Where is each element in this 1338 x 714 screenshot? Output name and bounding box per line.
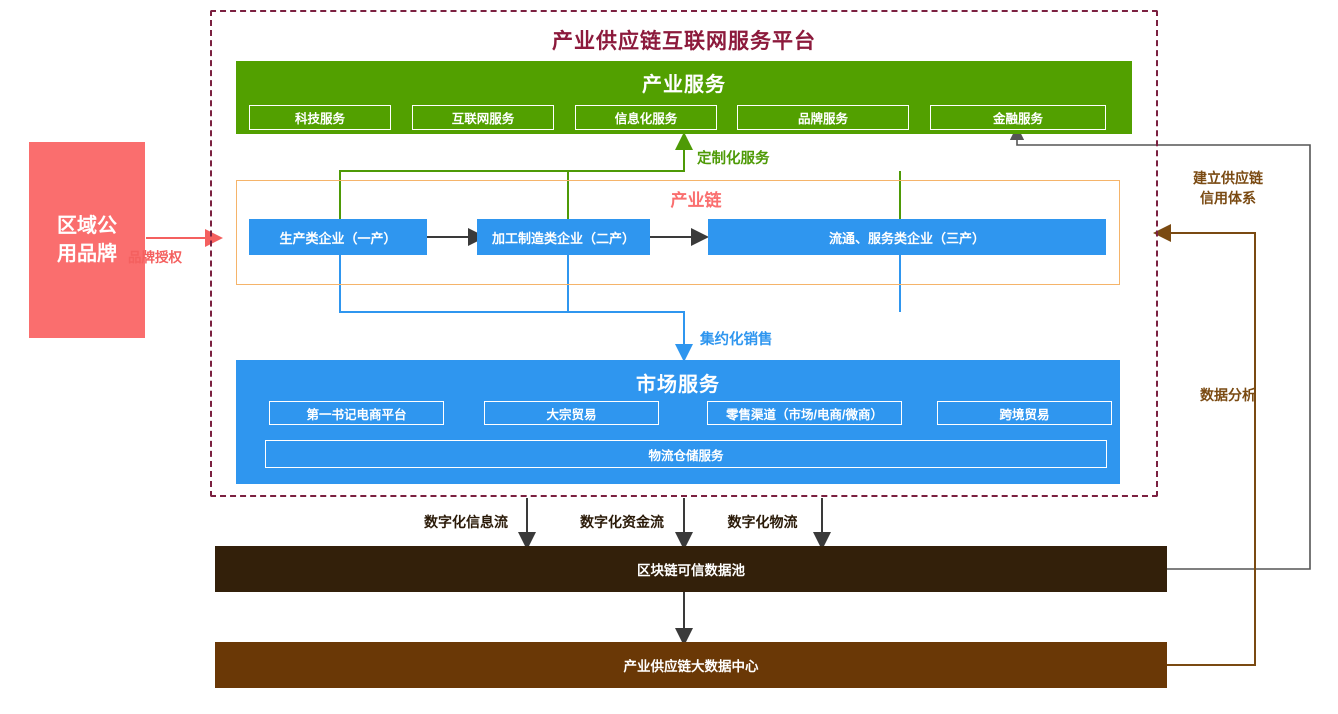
credit-system-label: 建立供应链 信用体系	[1168, 168, 1288, 208]
service-chip-internet[interactable]: 互联网服务	[412, 105, 554, 130]
industry-chain-title: 产业链	[636, 186, 756, 210]
regional-brand-line2: 用品牌	[57, 240, 117, 268]
industry-service-title: 产业服务	[236, 68, 1132, 96]
bigdata-center-bar: 产业供应链大数据中心	[215, 642, 1167, 688]
intensive-sales-label: 集约化销售	[700, 328, 820, 348]
market-service-title: 市场服务	[236, 368, 1120, 396]
blockchain-data-pool-bar: 区块链可信数据池	[215, 546, 1167, 592]
service-chip-finance[interactable]: 金融服务	[930, 105, 1106, 130]
credit-system-line1: 建立供应链	[1193, 168, 1263, 188]
chain-node-tertiary[interactable]: 流通、服务类企业（三产）	[708, 219, 1106, 255]
flow-label-logistics: 数字化物流	[710, 512, 815, 532]
data-analysis-label: 数据分析	[1168, 385, 1288, 405]
service-chip-brand[interactable]: 品牌服务	[737, 105, 909, 130]
brand-authorization-label: 品牌授权	[128, 246, 214, 266]
flow-label-information: 数字化信息流	[410, 512, 522, 532]
service-chip-tech[interactable]: 科技服务	[249, 105, 391, 130]
chain-node-secondary[interactable]: 加工制造类企业（二产）	[477, 219, 650, 255]
diagram-canvas: 产业供应链互联网服务平台 产业服务 科技服务 互联网服务 信息化服务 品牌服务 …	[0, 0, 1338, 714]
regional-brand-box: 区域公 用品牌	[29, 142, 145, 338]
chain-node-primary[interactable]: 生产类企业（一产）	[249, 219, 427, 255]
service-chip-informatization[interactable]: 信息化服务	[575, 105, 717, 130]
market-chip-logistics-warehouse[interactable]: 物流仓储服务	[265, 440, 1107, 468]
custom-service-label: 定制化服务	[697, 147, 817, 167]
credit-system-line2: 信用体系	[1193, 188, 1263, 208]
regional-brand-line1: 区域公	[57, 212, 117, 240]
market-chip-retail-channel[interactable]: 零售渠道（市场/电商/微商）	[707, 401, 902, 425]
market-chip-cross-border[interactable]: 跨境贸易	[937, 401, 1112, 425]
arrow-data-analysis	[1162, 233, 1255, 665]
market-chip-ecommerce[interactable]: 第一书记电商平台	[269, 401, 444, 425]
flow-label-capital: 数字化资金流	[566, 512, 678, 532]
market-chip-bulk-trade[interactable]: 大宗贸易	[484, 401, 659, 425]
page-title: 产业供应链互联网服务平台	[210, 25, 1158, 55]
